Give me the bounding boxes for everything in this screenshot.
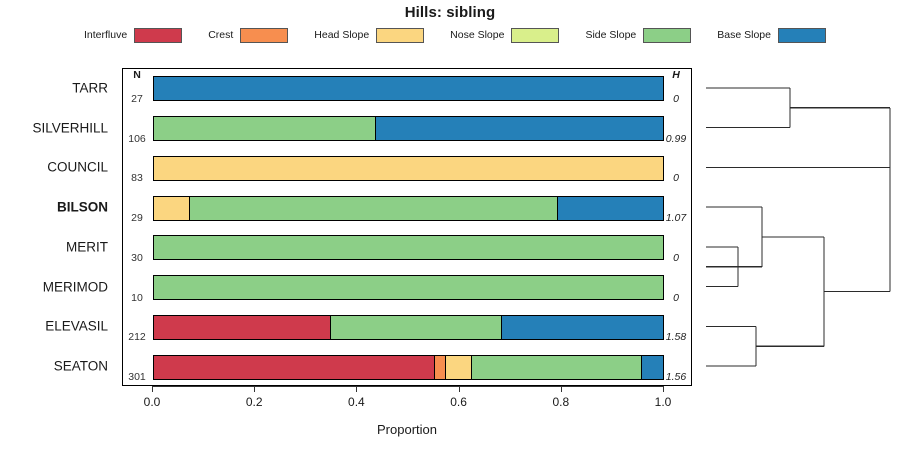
n-value-elevasil: 212: [122, 331, 152, 343]
bar-segment-base-slope: [154, 77, 663, 100]
n-column-header: N: [122, 69, 152, 81]
bar-seaton: [153, 355, 664, 380]
dendrogram: [700, 68, 896, 386]
legend-swatch: [376, 28, 424, 43]
bar-segment-base-slope: [375, 117, 663, 140]
x-tick: [561, 386, 562, 392]
bar-segment-base-slope: [501, 316, 663, 339]
bar-segment-crest: [434, 356, 445, 379]
bar-segment-side-slope: [154, 276, 663, 299]
bar-segment-base-slope: [557, 197, 663, 220]
x-tick-label: 0.2: [246, 395, 263, 409]
x-tick-label: 0.6: [450, 395, 467, 409]
x-tick: [663, 386, 664, 392]
h-column-header: H: [660, 69, 692, 81]
n-value-council: 83: [122, 172, 152, 184]
h-value-seaton: 1.56: [660, 371, 692, 383]
chart-title: Hills: sibling: [0, 4, 900, 21]
legend-swatch: [240, 28, 288, 43]
h-value-elevasil: 1.58: [660, 331, 692, 343]
n-value-silverhill: 106: [122, 133, 152, 145]
bar-elevasil: [153, 315, 664, 340]
n-value-seaton: 301: [122, 371, 152, 383]
bar-segment-head-slope: [445, 356, 471, 379]
x-axis-line: [152, 386, 663, 387]
x-tick: [356, 386, 357, 392]
legend-label: Interfluve: [84, 29, 127, 41]
legend-item-base-slope: Base Slope: [717, 28, 826, 43]
bar-segment-interfluve: [154, 316, 330, 339]
n-value-merit: 30: [122, 252, 152, 264]
bar-segment-side-slope: [330, 316, 501, 339]
legend-item-interfluve: Interfluve: [84, 28, 182, 43]
bar-segment-head-slope: [154, 157, 663, 180]
legend-swatch: [511, 28, 559, 43]
chart-root: Hills: sibling Interfluve Crest Head Slo…: [0, 0, 900, 460]
x-tick-label: 1.0: [655, 395, 672, 409]
h-value-bilson: 1.07: [660, 212, 692, 224]
legend-item-head-slope: Head Slope: [314, 28, 424, 43]
bar-merimod: [153, 275, 664, 300]
h-column: H00.9901.07001.581.56: [660, 68, 694, 386]
y-label-merit: MERIT: [66, 239, 108, 254]
bar-silverhill: [153, 116, 664, 141]
legend-label: Head Slope: [314, 29, 369, 41]
legend-label: Crest: [208, 29, 233, 41]
plot-panel: [122, 68, 692, 386]
y-label-bilson: BILSON: [57, 200, 108, 215]
y-label-council: COUNCIL: [47, 160, 108, 175]
h-value-council: 0: [660, 172, 692, 184]
h-value-merimod: 0: [660, 292, 692, 304]
x-tick-label: 0.0: [144, 395, 161, 409]
n-value-merimod: 10: [122, 292, 152, 304]
legend-swatch: [643, 28, 691, 43]
bar-merit: [153, 235, 664, 260]
legend-label: Base Slope: [717, 29, 771, 41]
h-value-silverhill: 0.99: [660, 133, 692, 145]
n-value-bilson: 29: [122, 212, 152, 224]
x-tick-label: 0.4: [348, 395, 365, 409]
bar-segment-side-slope: [154, 236, 663, 259]
x-tick: [459, 386, 460, 392]
y-axis-category-labels: TARRSILVERHILLCOUNCILBILSONMERITMERIMODE…: [0, 68, 116, 386]
legend-item-nose-slope: Nose Slope: [450, 28, 559, 43]
legend-swatch: [134, 28, 182, 43]
bar-segment-interfluve: [154, 356, 434, 379]
bar-tarr: [153, 76, 664, 101]
y-label-seaton: SEATON: [54, 359, 108, 374]
legend-swatch: [778, 28, 826, 43]
bar-segment-side-slope: [189, 197, 556, 220]
bar-bilson: [153, 196, 664, 221]
legend: Interfluve Crest Head Slope Nose Slope S…: [0, 25, 900, 45]
x-axis: 0.00.20.40.60.81.0: [122, 386, 692, 420]
bar-segment-side-slope: [154, 117, 375, 140]
n-column: N2710683293010212301: [122, 68, 154, 386]
y-label-silverhill: SILVERHILL: [32, 120, 108, 135]
bar-segment-side-slope: [471, 356, 642, 379]
x-axis-title: Proportion: [122, 422, 692, 437]
x-tick: [152, 386, 153, 392]
bar-council: [153, 156, 664, 181]
bar-segment-head-slope: [154, 197, 189, 220]
x-tick: [254, 386, 255, 392]
legend-label: Side Slope: [585, 29, 636, 41]
y-label-merimod: MERIMOD: [43, 279, 108, 294]
legend-item-crest: Crest: [208, 28, 288, 43]
bars-layer: [123, 69, 691, 385]
n-value-tarr: 27: [122, 93, 152, 105]
h-value-tarr: 0: [660, 93, 692, 105]
x-tick-label: 0.8: [552, 395, 569, 409]
y-label-tarr: TARR: [72, 80, 108, 95]
h-value-merit: 0: [660, 252, 692, 264]
legend-item-side-slope: Side Slope: [585, 28, 691, 43]
legend-label: Nose Slope: [450, 29, 504, 41]
y-label-elevasil: ELEVASIL: [45, 319, 108, 334]
